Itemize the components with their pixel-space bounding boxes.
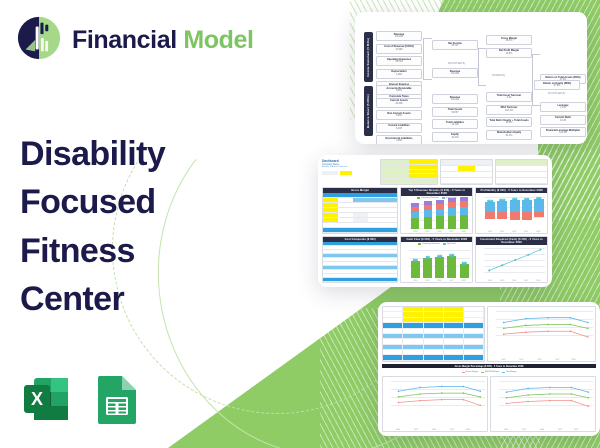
connector: [423, 38, 432, 80]
margin-row-bottom: 2024 2025 2026 2027 2028: [382, 376, 596, 432]
margin-row-top: 2024 2025 2026 2027 2028: [382, 306, 596, 362]
panel-gross-margin-table: Gross Margin: [322, 187, 398, 234]
dashboard-layout: Dashboard Company Name Monthly & Annual …: [322, 159, 548, 283]
tree-node: Current Assets 44,606: [376, 98, 422, 108]
tree-node: Total Debt / Equity + Total Assets 18.6%: [486, 117, 532, 127]
dashboard-row-bottom: Cost Composite ($ 000): [322, 236, 548, 283]
excel-icon[interactable]: X: [20, 372, 74, 426]
result-nodes-lower: Leverage 1.23x Current Ratio 10.38 Finan…: [540, 102, 586, 137]
stacked-bar-chart: 2024 2025 2026 2027 2028: [401, 200, 472, 233]
line-chart: 2024 2025 2026 2027 2028: [491, 377, 595, 431]
tree-node: Non-Current Assets 9,951: [376, 110, 422, 120]
tree-node: Shareholders Equity 81.4%: [486, 130, 532, 140]
headline-line-1: Disability: [20, 130, 250, 178]
tree-node: Depreciation 1,981: [376, 69, 422, 79]
dashboard-header-row: Dashboard Company Name Monthly & Annual …: [322, 159, 548, 185]
screenshot-card-dashboard[interactable]: Dashboard Company Name Monthly & Annual …: [318, 155, 552, 287]
bar: 8.1: [411, 261, 420, 278]
panel-net-margin-line: 2024 2025 2026 2027 2028: [382, 376, 488, 432]
headline-line-2: Focused: [20, 178, 250, 226]
tree-node: Financial Leverage Multiplier 122.8%: [540, 127, 586, 137]
operator-label: DIVIDED By: [492, 74, 505, 77]
balance-sheet-nodes: Accounts Receivable 8,861 Current Assets…: [376, 85, 422, 144]
tree-node: Total Assets 54,557: [432, 107, 478, 117]
tree-node: Cost of Revenue (COGS) 41,580: [376, 44, 422, 54]
tree-node: Net Income 25,727: [432, 40, 478, 50]
dashboard-kpi-table-1: [440, 159, 493, 185]
tree-node: Total Liabilities 10,138: [432, 119, 478, 129]
roe-node: Return on Equity (ROE) 57.9%: [534, 80, 580, 90]
margin-section-header-left: Gross Margin Percentage ($ 000) - 5 Year…: [382, 364, 596, 369]
dupont-tree-diagram: Income Statement (5 Mths) Balance Sheet …: [360, 18, 582, 138]
bar-pair: 14.2: [484, 195, 496, 229]
tree-node: Operating Expenses 53,718: [376, 56, 422, 66]
bar-pair: 18.6: [533, 195, 545, 229]
bar-stack: [460, 197, 468, 229]
panel-investment-required-chart: Investment Required (Cash) ($ 000) - 5 Y…: [475, 236, 548, 283]
headline-line-3: Fitness: [20, 227, 250, 275]
bar-stack: [436, 200, 444, 229]
panel-profitability-chart: Profitability ($ 000) - 5 Years to Decem…: [475, 187, 548, 234]
tree-node: Current Ratio 10.38: [540, 115, 586, 125]
operator-label: MULTIPLIED By: [548, 92, 565, 95]
page-title: Disability Focused Fitness Center: [20, 130, 250, 323]
margin-charts-layout: 2024 2025 2026 2027 2028 Gross Margin Pe…: [382, 306, 596, 432]
bar: 6.9: [460, 264, 469, 278]
file-format-icons: X: [20, 372, 140, 426]
screenshot-card-margin-charts[interactable]: 2024 2025 2026 2027 2028 Gross Margin Pe…: [378, 302, 600, 436]
bar-stack: [448, 198, 456, 229]
bar: 10.8: [447, 256, 456, 278]
tree-node: Revenue 131,822: [432, 94, 478, 104]
brand-name: Financial Model: [72, 26, 254, 55]
bar-stack: [424, 201, 432, 229]
svg-text:X: X: [31, 389, 43, 409]
brand-logo: Financial Model: [16, 15, 254, 66]
brand-name-part1: Financial: [72, 26, 177, 54]
mid-column-nodes-upper: Net Income 25,727: [432, 40, 478, 50]
mid-column-nodes-lower: Revenue 131,822 Total Assets 54,557 Tota…: [432, 94, 478, 142]
tree-node: Return on Equity (ROE) 57.9%: [534, 80, 580, 90]
operator-label: MULTIPLIED By: [448, 62, 465, 65]
brand-name-part2: Model: [183, 26, 253, 54]
dashboard-kpi-table-2: [495, 159, 548, 185]
ratio-nodes-lower: Total Asset Turnover 2.42 ROA Turnover 1…: [486, 92, 532, 140]
panel-margin-table: [382, 306, 485, 362]
mid-column-nodes-rev: Revenue 131,822: [432, 68, 478, 78]
bar-stack: [411, 203, 419, 229]
tree-node: Revenue 131,822: [432, 68, 478, 78]
panel-operating-margin-line: 2024 2025 2026 2027 2028: [490, 376, 596, 432]
tree-node: Net Profit Margin 19.5%: [486, 48, 532, 58]
bar-pair: 18.0: [521, 195, 533, 229]
dashboard-row-middle: Gross Margin Top 5 Revenue Streams ($ 00…: [322, 187, 548, 234]
panel-cash-flow-chart: Cash Flow ($ 000) - 5 Years to December …: [400, 236, 473, 283]
dashboard-kpi-green: [380, 159, 438, 185]
tree-node: Non-Current Liabilities 3,955: [376, 135, 422, 144]
tree-node: Total Asset Turnover 2.42: [486, 92, 532, 102]
ratio-nodes-upper: Gross Margin 68.5% Net Profit Margin 19.…: [486, 35, 532, 58]
tree-node: Current Liabilities 6,183: [376, 123, 422, 133]
column-chart: 8.1 9.4 10.2 10.8 6.9 2024 2025 2026 202…: [401, 246, 472, 282]
connector: [478, 48, 486, 86]
line-chart: 2024 2025 2026 2027 2028: [488, 307, 595, 361]
panel-gross-margin-line: 2024 2025 2026 2027 2028: [487, 306, 596, 362]
line-chart: 2024 2025 2026 2027 2028: [383, 377, 487, 431]
tree-node: Equity 44,419: [432, 132, 478, 142]
bar-pair: 15.8: [496, 195, 508, 229]
bar-pair: 17.1: [509, 195, 521, 229]
line-chart: 2024 2025 2026 2027 2028: [476, 245, 547, 282]
tree-node: ROA Turnover 104.1%: [486, 105, 532, 115]
sidebar-label-balance-sheet: Balance Sheet (5 Mths): [364, 86, 373, 136]
google-sheets-icon[interactable]: [94, 372, 140, 426]
connector: [532, 54, 540, 106]
panel-cost-composite-table: Cost Composite ($ 000): [322, 236, 398, 283]
tree-node: Gross Margin 68.5%: [486, 35, 532, 45]
financial-model-circle-logo-icon: [16, 15, 62, 66]
dashboard-title-block: Dashboard Company Name Monthly & Annual …: [322, 159, 378, 185]
marketing-poster: Financial Model Disability Focused Fitne…: [0, 0, 600, 448]
tree-node: Leverage 1.23x: [540, 102, 586, 112]
tree-node: Accounts Receivable 8,861: [376, 85, 422, 95]
headline-line-4: Center: [20, 275, 250, 323]
margin-legend: Gross Margin EBITDA Margin Net Margin: [382, 370, 596, 374]
screenshot-card-dupont-tree[interactable]: Income Statement (5 Mths) Balance Sheet …: [355, 12, 587, 144]
panel-revenue-streams-chart: Top 5 Revenue Streams ($ 000) - 5 Years …: [400, 187, 473, 234]
tree-node: Revenue 131,822: [376, 31, 422, 41]
sidebar-label-income-statement: Income Statement (5 Mths): [364, 32, 373, 82]
bar: 10.2: [435, 257, 444, 278]
bar: 9.4: [423, 258, 432, 278]
paired-bar-chart: 14.2 15.8 17.1: [476, 193, 547, 233]
